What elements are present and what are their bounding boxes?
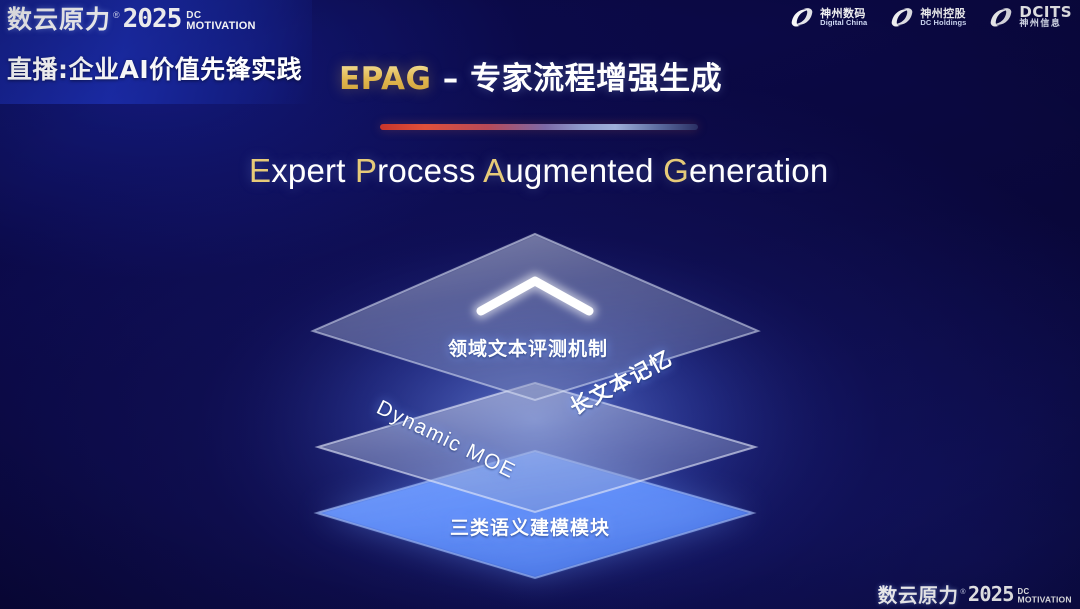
watermark-dc-line2: MOTIVATION (1018, 596, 1072, 604)
chevron-up-icon (481, 281, 589, 311)
slide-stage: 领域文本评测机制 Dynamic MOE 长文本记忆 三类语义建模模块 数云原力… (0, 0, 1080, 609)
brand-dc-motivation: DC MOTIVATION (186, 11, 255, 31)
brand-dc-line2: MOTIVATION (186, 21, 255, 31)
subtitle-part-0: E (249, 152, 271, 189)
partner-name-cn: DCITS (1019, 5, 1072, 20)
subtitle-part-7: eneration (689, 152, 828, 189)
slide-title-separator: – (432, 61, 471, 97)
brand-logo: 数云原力 ® 2025 DC MOTIVATION (7, 6, 256, 32)
layer-top-label: 领域文本评测机制 (448, 334, 608, 361)
swirl-logo-icon (889, 6, 915, 28)
partner-logo-text: 神州数码 Digital China (820, 8, 867, 27)
swirl-logo-icon (789, 6, 815, 28)
partner-name-en: DC Holdings (920, 19, 966, 27)
swirl-logo-icon (988, 6, 1014, 28)
stack-ambient-glow (235, 235, 835, 605)
layer-top (313, 234, 758, 400)
subtitle-part-2: P (355, 152, 377, 189)
watermark-name-cn: 数云原力 (878, 586, 959, 606)
subtitle-part-3: rocess (377, 152, 483, 189)
brand-year: 2025 (123, 6, 182, 32)
watermark-year: 2025 (968, 585, 1014, 605)
partner-logo-text: 神州控股 DC Holdings (920, 8, 966, 27)
partner-logo-text: DCITS 神州信息 (1019, 5, 1072, 29)
subtitle-part-4: A (483, 152, 505, 189)
watermark-registered-mark: ® (961, 588, 966, 596)
partner-logo-dcits: DCITS 神州信息 (988, 5, 1072, 29)
live-broadcast-title: 直播:企业AI价值先锋实践 (7, 50, 302, 86)
brand-registered-mark: ® (113, 10, 120, 20)
watermark-dc-motivation: DC MOTIVATION (1018, 589, 1072, 605)
title-divider-bar (380, 124, 698, 130)
slide-title: EPAG – 专家流程增强生成 (339, 53, 722, 98)
watermark-logo: 数云原力 ® 2025 DC MOTIVATION (878, 585, 1072, 605)
partner-logo-group: 神州数码 Digital China 神州控股 DC Holdings DCIT… (789, 5, 1072, 29)
subtitle-part-1: xpert (271, 152, 355, 189)
slide-title-cn: 专家流程增强生成 (470, 61, 722, 97)
slide-subtitle: Expert Process Augmented Generation (249, 152, 828, 190)
brand-name-cn: 数云原力 (7, 7, 111, 32)
partner-logo-digital-china: 神州数码 Digital China (789, 6, 867, 28)
layer-bottom-label: 三类语义建模模块 (450, 513, 610, 540)
partner-name-en: Digital China (820, 19, 867, 27)
partner-name-en: 神州信息 (1019, 20, 1072, 29)
layer-middle-label-left: Dynamic MOE (372, 396, 519, 484)
subtitle-part-5: ugmented (505, 152, 663, 189)
partner-logo-dc-holdings: 神州控股 DC Holdings (889, 6, 966, 28)
subtitle-part-6: G (663, 152, 689, 189)
slide-title-acronym: EPAG (339, 61, 432, 97)
